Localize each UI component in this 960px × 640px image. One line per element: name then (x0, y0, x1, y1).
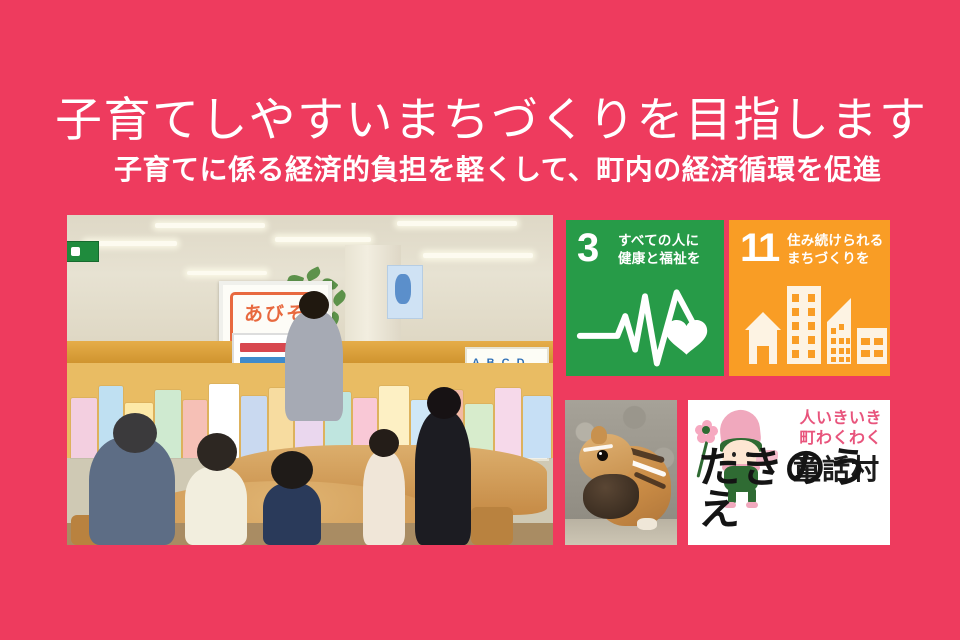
sdg-label-line2: 健康と福祉を (618, 250, 701, 268)
pine-cone (583, 474, 639, 519)
chair (471, 507, 513, 545)
sdg-label-line2: まちづくりを (787, 250, 884, 268)
chipmunk-paw (637, 518, 657, 530)
staff-standing (285, 311, 343, 421)
chipmunk-photo (565, 400, 677, 545)
child-head (369, 429, 399, 457)
sdg-label-line1: 住み続けられる (787, 232, 884, 250)
logo-tagline-line1: 人いきいき (799, 409, 882, 429)
child-standing (363, 451, 405, 545)
adult-standing (415, 411, 471, 545)
staff-head (299, 291, 329, 319)
sdg-number: 3 (577, 228, 598, 268)
adult-head (427, 387, 461, 419)
slide-root: 子育てしやすいまちづくりを目指します 子育てに係る経済的負担を軽くして、町内の経… (0, 0, 960, 640)
adult-head (113, 413, 157, 453)
ceiling-lamp (187, 271, 267, 275)
sdg-goal-3: 3 すべての人に 健康と福祉を (566, 220, 724, 376)
chipmunk-ear (591, 426, 607, 444)
cherry-blossom-icon (696, 420, 718, 442)
ceiling-lamp (423, 253, 533, 258)
ceiling-lamp (155, 223, 265, 228)
sdg-label-line1: すべての人に (618, 232, 701, 250)
exit-sign-icon (67, 241, 99, 262)
heartbeat-heart-icon (566, 278, 724, 370)
town-logo: 人いきいき 町わくわく 童話村 たきのうえ (688, 400, 890, 545)
logo-town-name: たきのうえ (698, 447, 890, 531)
cityscape-buildings-icon (729, 278, 890, 370)
library-photo: あびそ A B C D E F G H I J K L M N O P (67, 215, 553, 545)
sdg-goal-11: 11 住み続けられる まちづくりを (729, 220, 890, 376)
ceiling-lamp (275, 237, 371, 242)
sdg-label: 住み続けられる まちづくりを (787, 232, 884, 268)
child-head (271, 451, 313, 489)
adult-seated (89, 437, 175, 545)
child-seated (185, 467, 247, 545)
child-seated (263, 483, 321, 545)
sdg-number: 11 (740, 228, 778, 268)
child-head (197, 433, 237, 471)
page-subtitle: 子育てに係る経済的負担を軽くして、町内の経済循環を促進 (114, 154, 914, 186)
sdg-label: すべての人に 健康と福祉を (618, 232, 701, 268)
chipmunk-eye (597, 450, 608, 461)
ceiling-lamp (397, 221, 517, 226)
page-title: 子育てしやすいまちづくりを目指します (55, 96, 915, 143)
wall-poster (387, 265, 423, 319)
